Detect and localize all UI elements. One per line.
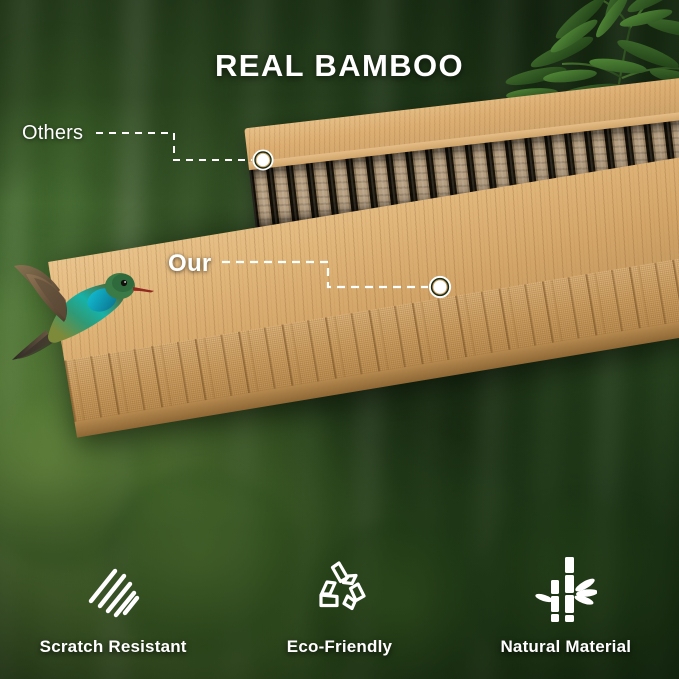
feature-natural-material: Natural Material: [453, 553, 679, 657]
callout-label-others: Others: [22, 122, 83, 145]
feature-scratch-resistant: Scratch Resistant: [0, 553, 226, 657]
product-infographic: Others Our REAL BAMBOO Scratch Resistant: [0, 0, 679, 679]
feature-label: Eco-Friendly: [287, 637, 392, 657]
feature-eco-friendly: Eco-Friendly: [226, 553, 452, 657]
feature-row: Scratch Resistant: [0, 553, 679, 657]
bamboo-stalk-icon: [535, 553, 597, 625]
recycle-icon: [308, 553, 370, 625]
hummingbird-image: [2, 246, 154, 374]
feature-label: Scratch Resistant: [40, 637, 187, 657]
scratch-lines-icon: [82, 553, 144, 625]
feature-label: Natural Material: [500, 637, 631, 657]
page-title: REAL BAMBOO: [0, 48, 679, 84]
callout-label-our: Our: [168, 250, 212, 278]
